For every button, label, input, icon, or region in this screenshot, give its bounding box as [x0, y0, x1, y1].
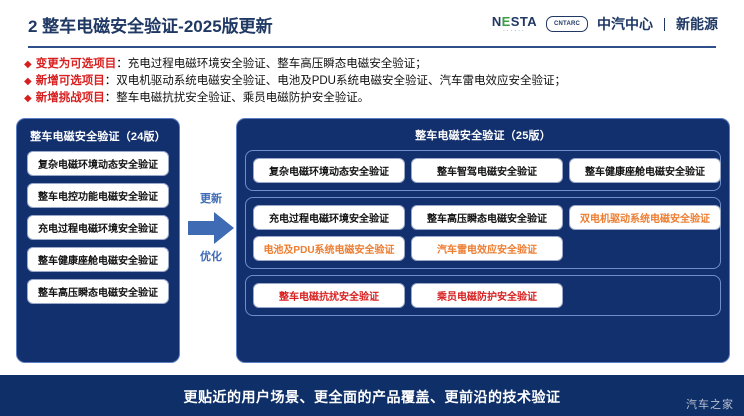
bullet-label: 新增可选项目: [36, 73, 105, 90]
list-item[interactable]: 复杂电磁环境动态安全验证: [253, 158, 405, 183]
right-arrow-icon: [188, 212, 234, 244]
list-item[interactable]: 整车电控功能电磁安全验证: [27, 183, 169, 208]
list-item[interactable]: 整车高压瞬态电磁安全验证: [411, 205, 563, 230]
panel-version-25: 整车电磁安全验证（25版） 复杂电磁环境动态安全验证 整车智驾电磁安全验证 整车…: [236, 118, 730, 363]
bullet-label: 变更为可选项目: [36, 56, 117, 73]
transition-arrow-group: 更新 优化: [186, 192, 236, 292]
group-rows: 复杂电磁环境动态安全验证 整车智驾电磁安全验证 整车健康座舱电磁安全验证: [253, 158, 713, 183]
nesta-wordmark: NESTA: [492, 15, 537, 28]
nesta-letter-n: N: [492, 14, 502, 29]
bullet-colon: ：: [105, 90, 117, 107]
table-row: 复杂电磁环境动态安全验证 整车智驾电磁安全验证 整车健康座舱电磁安全验证: [253, 158, 713, 183]
diamond-bullet-icon: ◆: [24, 90, 32, 107]
catarc-logo-icon: CNTARC: [546, 16, 588, 32]
org-division: 新能源: [676, 14, 718, 34]
group-optional: 充电过程电磁环境安全验证 整车高压瞬态电磁安全验证 双电机驱动系统电磁安全验证 …: [245, 197, 721, 269]
list-item[interactable]: 充电过程电磁环境安全验证: [27, 215, 169, 240]
list-item[interactable]: 整车健康座舱电磁安全验证: [27, 247, 169, 272]
group-challenge: 整车电磁抗扰安全验证 乘员电磁防护安全验证: [245, 275, 721, 316]
comparison-diagram: 整车电磁安全验证（24版） 复杂电磁环境动态安全验证 整车电控功能电磁安全验证 …: [0, 112, 744, 370]
panel-25-groups: 复杂电磁环境动态安全验证 整车智驾电磁安全验证 整车健康座舱电磁安全验证 充电过…: [237, 150, 729, 316]
slide-header: 2 整车电磁安全验证-2025版更新 NESTA ······ CNTARC 中…: [0, 0, 744, 48]
bottom-banner: 更贴近的用户场景、更全面的产品覆盖、更前沿的技术验证 汽车之家: [0, 375, 744, 416]
arrow-shaft: [188, 221, 216, 235]
watermark: 汽车之家: [686, 396, 734, 412]
logo-group: NESTA ······ CNTARC 中汽中心 新能源: [492, 13, 718, 35]
logo-divider: [664, 18, 665, 31]
list-item[interactable]: 乘员电磁防护安全验证: [411, 283, 563, 308]
table-row: 充电过程电磁环境安全验证 整车高压瞬态电磁安全验证 双电机驱动系统电磁安全验证: [253, 205, 713, 230]
list-item[interactable]: 整车健康座舱电磁安全验证: [569, 158, 721, 183]
bullet-text: 双电机驱动系统电磁安全验证、电池及PDU系统电磁安全验证、汽车雷电效应安全验证；: [116, 73, 566, 90]
arrow-head: [214, 212, 234, 244]
org-name: 中汽中心: [597, 14, 653, 34]
banner-tagline: 更贴近的用户场景、更全面的产品覆盖、更前沿的技术验证: [0, 387, 744, 407]
diamond-bullet-icon: ◆: [24, 73, 32, 90]
group-rows: 充电过程电磁环境安全验证 整车高压瞬态电磁安全验证 双电机驱动系统电磁安全验证 …: [253, 205, 713, 261]
list-item: ◆ 变更为可选项目 ： 充电过程电磁环境安全验证、整车高压瞬态电磁安全验证；: [24, 56, 734, 73]
table-row: 电池及PDU系统电磁安全验证 汽车雷电效应安全验证: [253, 236, 713, 261]
list-item: ◆ 新增可选项目 ： 双电机驱动系统电磁安全验证、电池及PDU系统电磁安全验证、…: [24, 73, 734, 90]
list-item: ◆ 新增挑战项目 ： 整车电磁抗扰安全验证、乘员电磁防护安全验证。: [24, 90, 734, 107]
arrow-label-optimize: 优化: [186, 250, 236, 264]
list-item[interactable]: 整车电磁抗扰安全验证: [253, 283, 405, 308]
panel-24-item-list: 复杂电磁环境动态安全验证 整车电控功能电磁安全验证 充电过程电磁环境安全验证 整…: [17, 151, 179, 304]
bullet-text: 整车电磁抗扰安全验证、乘员电磁防护安全验证。: [116, 90, 369, 107]
table-row: 整车电磁抗扰安全验证 乘员电磁防护安全验证: [253, 283, 713, 308]
bullet-label: 新增挑战项目: [36, 90, 105, 107]
diamond-bullet-icon: ◆: [24, 56, 32, 73]
nesta-dots: ······: [503, 29, 526, 34]
list-item[interactable]: 双电机驱动系统电磁安全验证: [569, 205, 721, 230]
bullet-list: ◆ 变更为可选项目 ： 充电过程电磁环境安全验证、整车高压瞬态电磁安全验证； ◆…: [24, 56, 734, 107]
list-item[interactable]: 复杂电磁环境动态安全验证: [27, 151, 169, 176]
nesta-letters-sta: STA: [511, 14, 537, 29]
list-item[interactable]: 整车智驾电磁安全验证: [411, 158, 563, 183]
bullet-text: 充电过程电磁环境安全验证、整车高压瞬态电磁安全验证；: [128, 56, 427, 73]
list-item[interactable]: 整车高压瞬态电磁安全验证: [27, 279, 169, 304]
group-retained: 复杂电磁环境动态安全验证 整车智驾电磁安全验证 整车健康座舱电磁安全验证: [245, 150, 721, 191]
bullet-colon: ：: [116, 56, 128, 73]
arrow-label-update: 更新: [186, 192, 236, 206]
panel-version-24: 整车电磁安全验证（24版） 复杂电磁环境动态安全验证 整车电控功能电磁安全验证 …: [16, 118, 180, 363]
bullet-colon: ：: [105, 73, 117, 90]
nesta-letter-e: E: [502, 14, 511, 29]
nesta-logo: NESTA ······: [492, 15, 537, 34]
panel-title-25: 整车电磁安全验证（25版）: [237, 127, 729, 143]
list-item[interactable]: 电池及PDU系统电磁安全验证: [253, 236, 405, 261]
title-underline-rule: [28, 46, 716, 48]
page-title: 2 整车电磁安全验证-2025版更新: [28, 12, 273, 37]
panel-title-24: 整车电磁安全验证（24版）: [17, 128, 179, 144]
list-item[interactable]: 充电过程电磁环境安全验证: [253, 205, 405, 230]
list-item[interactable]: 汽车雷电效应安全验证: [411, 236, 563, 261]
group-rows: 整车电磁抗扰安全验证 乘员电磁防护安全验证: [253, 283, 713, 308]
